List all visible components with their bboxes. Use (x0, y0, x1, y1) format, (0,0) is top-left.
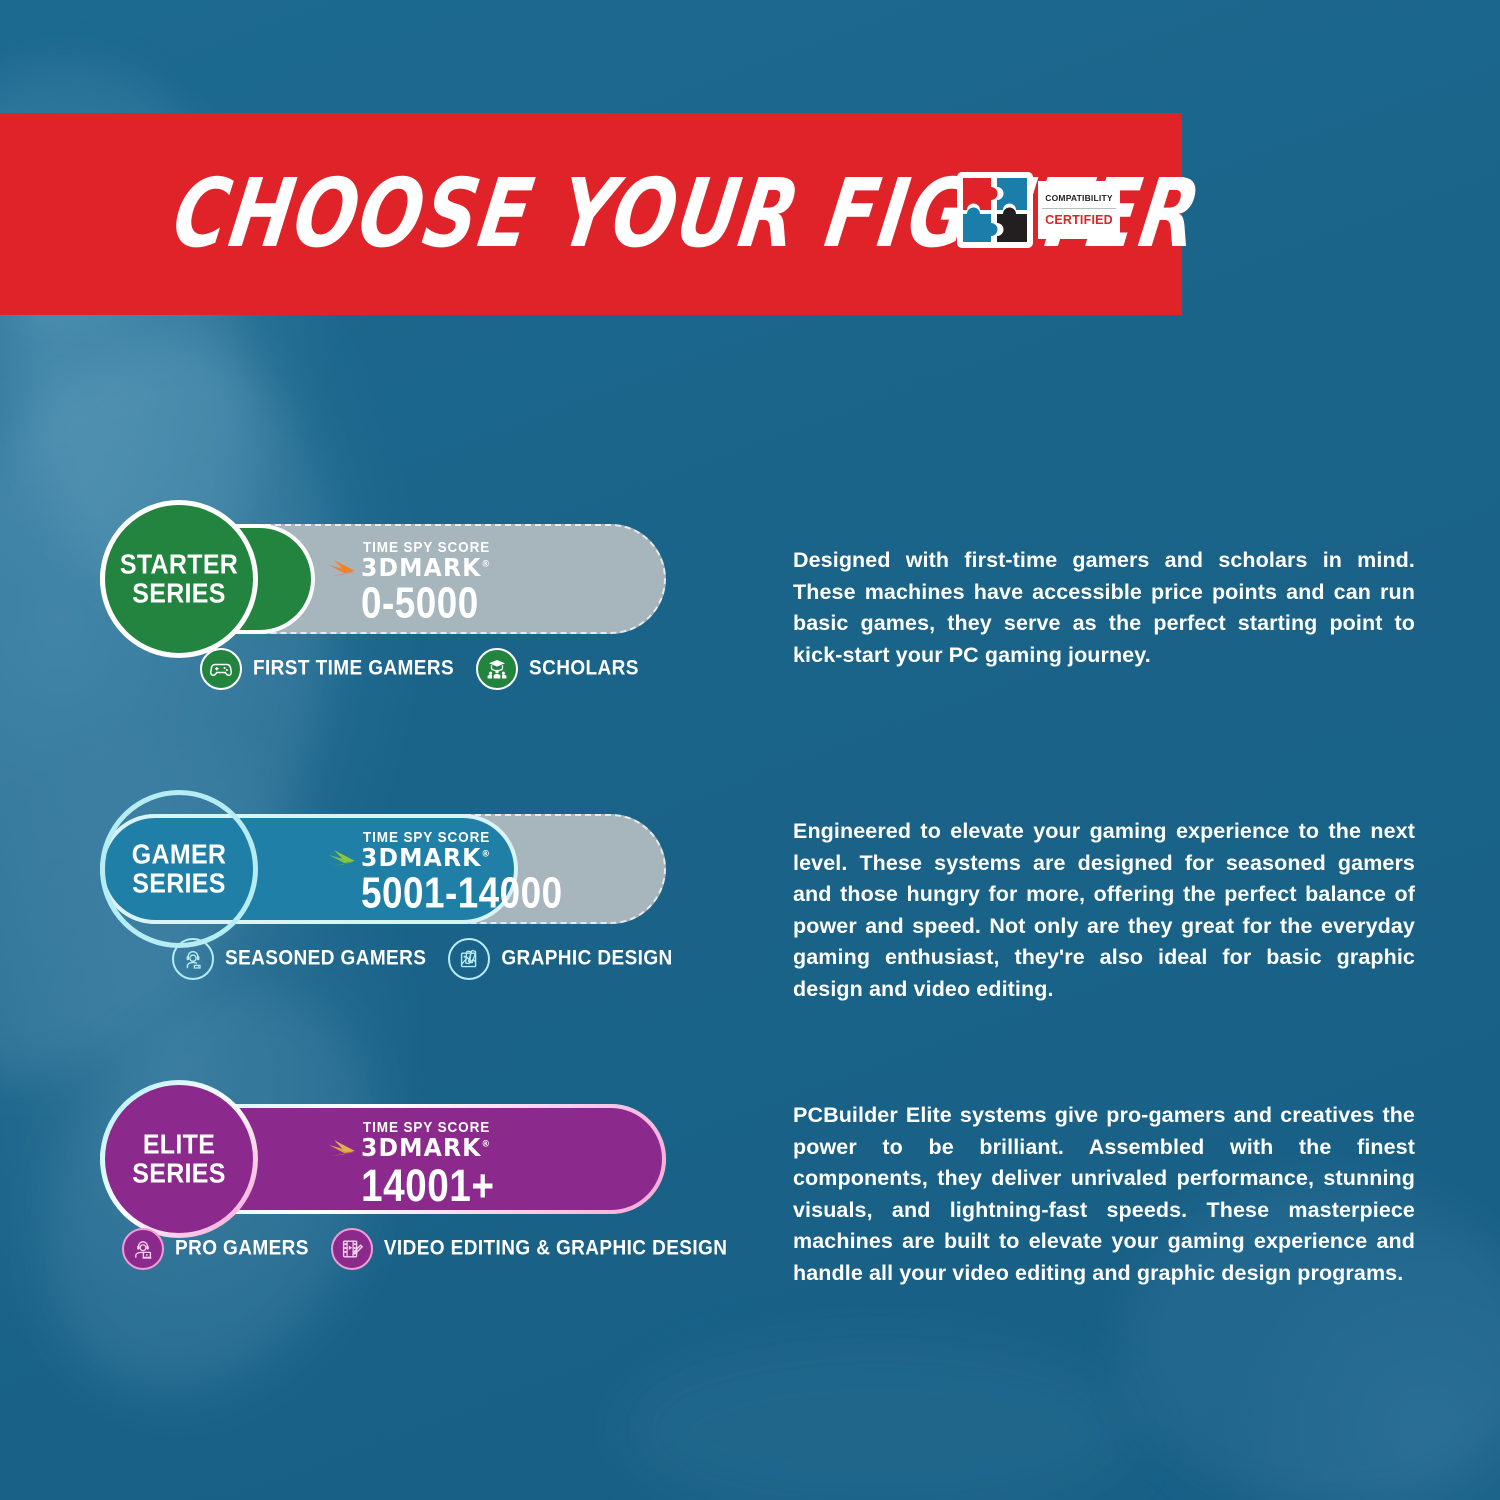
background-texture (620, 1340, 1140, 1500)
gamer-score-texts: TIME SPY SCORE 3DMARK® 5001-14000 (361, 830, 569, 912)
color-swatch-icon (448, 938, 490, 980)
audience-label: SCHOLARS (529, 657, 639, 681)
video-edit-glyph (340, 1237, 364, 1261)
3dmark-arrow-icon (328, 1139, 358, 1161)
audience-item: GRAPHIC DESIGN (448, 938, 672, 980)
video-edit-icon (331, 1228, 373, 1270)
infographic-page: CHOOSE YOUR FIGHTER COMPATIBILITY CERTIF… (0, 0, 1500, 1500)
elite-audience-row: PRO GAMERS (122, 1228, 727, 1270)
gamer-series-label: GAMER SERIES (132, 840, 227, 897)
background-texture (0, 282, 417, 1138)
starter-score-block: TIME SPY SCORE 3DMARK® 0-5000 (328, 540, 499, 622)
audience-item: FIRST TIME GAMERS (200, 648, 454, 690)
headset-gamer-icon (172, 938, 214, 980)
gamer-3dmark-wordmark: 3DMARK® (361, 844, 556, 871)
audience-label: SEASONED GAMERS (225, 947, 426, 971)
gamer-label-line1: GAMER (132, 838, 227, 869)
elite-label-line1: ELITE (143, 1128, 215, 1159)
badge-compatibility-label: COMPATIBILITY (1042, 194, 1116, 209)
color-swatch-glyph (457, 947, 481, 971)
gamer-bar-area: TIME SPY SCORE 3DMARK® 5001-14000 GAMER … (100, 790, 680, 925)
starter-label-line2: SERIES (132, 577, 226, 608)
pro-gamer-glyph (131, 1237, 155, 1261)
starter-label-line1: STARTER (120, 548, 238, 579)
elite-description: PCBuilder Elite systems give pro-gamers … (793, 1100, 1415, 1290)
elite-label-line2: SERIES (132, 1157, 226, 1188)
graduates-glyph (485, 657, 509, 681)
gamer-audience-row: SEASONED GAMERS GRAPHIC DESIGN (172, 938, 673, 980)
certified-text-block: COMPATIBILITY CERTIFIED (1038, 181, 1120, 239)
starter-score-value: 0-5000 (361, 581, 495, 629)
elite-score-texts: TIME SPY SCORE 3DMARK® 14001+ (361, 1120, 499, 1205)
gamepad-glyph (209, 657, 233, 681)
audience-item: PRO GAMERS (122, 1228, 309, 1270)
starter-score-texts: TIME SPY SCORE 3DMARK® 0-5000 (361, 540, 499, 622)
pro-gamer-icon (122, 1228, 164, 1270)
starter-series-label: STARTER SERIES (120, 550, 238, 607)
audience-label: GRAPHIC DESIGN (501, 947, 672, 971)
audience-item: SCHOLARS (476, 648, 639, 690)
elite-bar-area: TIME SPY SCORE 3DMARK® 14001+ ELITE SERI… (100, 1080, 680, 1215)
starter-series-badge: STARTER SERIES (100, 500, 258, 658)
starter-3dmark-wordmark: 3DMARK® (361, 554, 491, 581)
starter-bar-area: TIME SPY SCORE 3DMARK® 0-5000 STARTER SE… (100, 500, 680, 635)
elite-series-badge: ELITE SERIES (100, 1080, 258, 1238)
audience-item: VIDEO EDITING & GRAPHIC DESIGN (331, 1228, 727, 1270)
elite-score-block: TIME SPY SCORE 3DMARK® 14001+ (328, 1120, 499, 1205)
elite-score-value: 14001+ (361, 1161, 495, 1211)
audience-label: PRO GAMERS (175, 1237, 309, 1261)
gamer-description: Engineered to elevate your gaming experi… (793, 816, 1415, 1006)
graduates-icon (476, 648, 518, 690)
audience-item: SEASONED GAMERS (172, 938, 426, 980)
badge-certified-label: CERTIFIED (1045, 209, 1113, 227)
elite-series-label: ELITE SERIES (132, 1130, 226, 1187)
puzzle-icon (957, 172, 1033, 248)
audience-label: VIDEO EDITING & GRAPHIC DESIGN (384, 1237, 727, 1261)
audience-label: FIRST TIME GAMERS (253, 657, 454, 681)
gamer-label-line2: SERIES (132, 867, 226, 898)
headset-gamer-glyph (181, 947, 205, 971)
3dmark-arrow-icon (328, 559, 358, 581)
starter-description: Designed with first-time gamers and scho… (793, 545, 1415, 671)
gamer-series-badge: GAMER SERIES (100, 790, 258, 948)
3dmark-arrow-icon (328, 849, 358, 871)
starter-audience-row: FIRST TIME GAMERS SCHOLARS (200, 648, 639, 690)
gamer-score-value: 5001-14000 (361, 871, 563, 919)
gamer-score-block: TIME SPY SCORE 3DMARK® 5001-14000 (328, 830, 569, 912)
gamepad-icon (200, 648, 242, 690)
elite-3dmark-wordmark: 3DMARK® (361, 1134, 491, 1161)
compatibility-certified-badge: COMPATIBILITY CERTIFIED (957, 172, 1120, 248)
